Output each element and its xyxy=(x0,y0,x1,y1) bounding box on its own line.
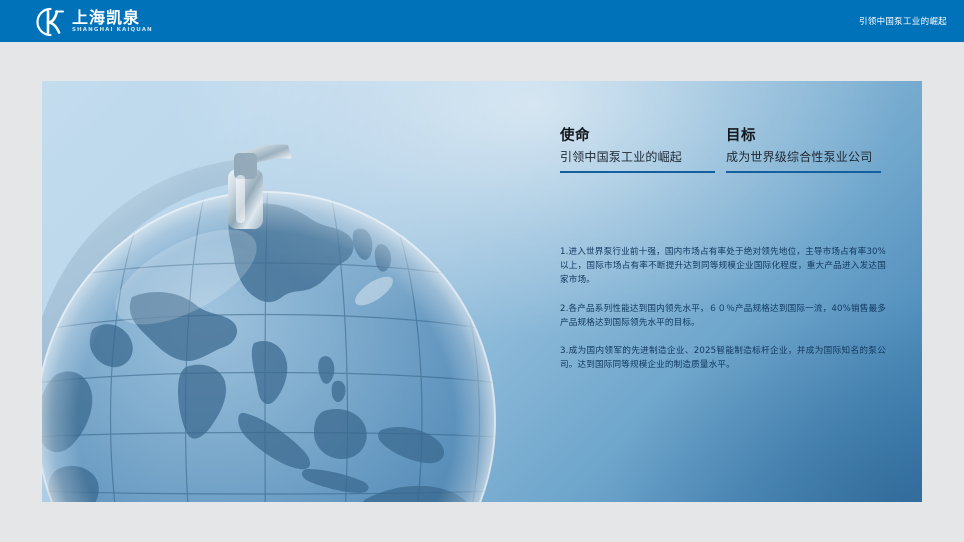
slide-text-column: 使命 引领中国泵工业的崛起 目标 成为世界级综合性泵业公司 1.进入世界泵行业前… xyxy=(520,81,922,502)
brand-name-en: SHANGHAI KAIQUAN xyxy=(72,28,153,34)
paragraph-2: 2.各产品系列性能达到国内领先水平，６０％产品规格达到国际一流，40%销售最多产… xyxy=(560,302,886,330)
mission-underline xyxy=(560,171,715,173)
brand-logo[interactable]: 上海凯泉 SHANGHAI KAIQUAN xyxy=(35,6,153,37)
brand-logo-text: 上海凯泉 SHANGHAI KAIQUAN xyxy=(72,10,153,34)
mission-subtitle: 引领中国泵工业的崛起 xyxy=(560,150,718,164)
goal-subtitle: 成为世界级综合性泵业公司 xyxy=(726,150,884,164)
mission-title: 使命 xyxy=(560,128,718,145)
heading-block-mission: 使命 引领中国泵工业的崛起 xyxy=(560,128,718,173)
body-paragraphs: 1.进入世界泵行业前十强，国内市场占有率处于绝对领先地位，主导市场占有率30%以… xyxy=(560,245,886,372)
goal-underline xyxy=(726,171,881,173)
header-tagline: 引领中国泵工业的崛起 xyxy=(859,0,947,42)
goal-title: 目标 xyxy=(726,128,884,145)
app-header-bar: 上海凯泉 SHANGHAI KAIQUAN 引领中国泵工业的崛起 xyxy=(0,0,964,42)
slide-canvas: 使命 引领中国泵工业的崛起 目标 成为世界级综合性泵业公司 1.进入世界泵行业前… xyxy=(42,81,922,502)
headings-row: 使命 引领中国泵工业的崛起 目标 成为世界级综合性泵业公司 xyxy=(560,128,900,173)
glass-globe-illustration xyxy=(42,81,556,502)
paragraph-3: 3.成为国内领军的先进制造企业、2025智能制造标杆企业，并成为国际知名的泵公司… xyxy=(560,344,886,372)
paragraph-1: 1.进入世界泵行业前十强，国内市场占有率处于绝对领先地位，主导市场占有率30%以… xyxy=(560,245,886,288)
heading-block-goal: 目标 成为世界级综合性泵业公司 xyxy=(726,128,884,173)
brand-name-cn: 上海凯泉 xyxy=(72,10,153,26)
kaiquan-circle-k-logo-icon xyxy=(35,7,66,37)
